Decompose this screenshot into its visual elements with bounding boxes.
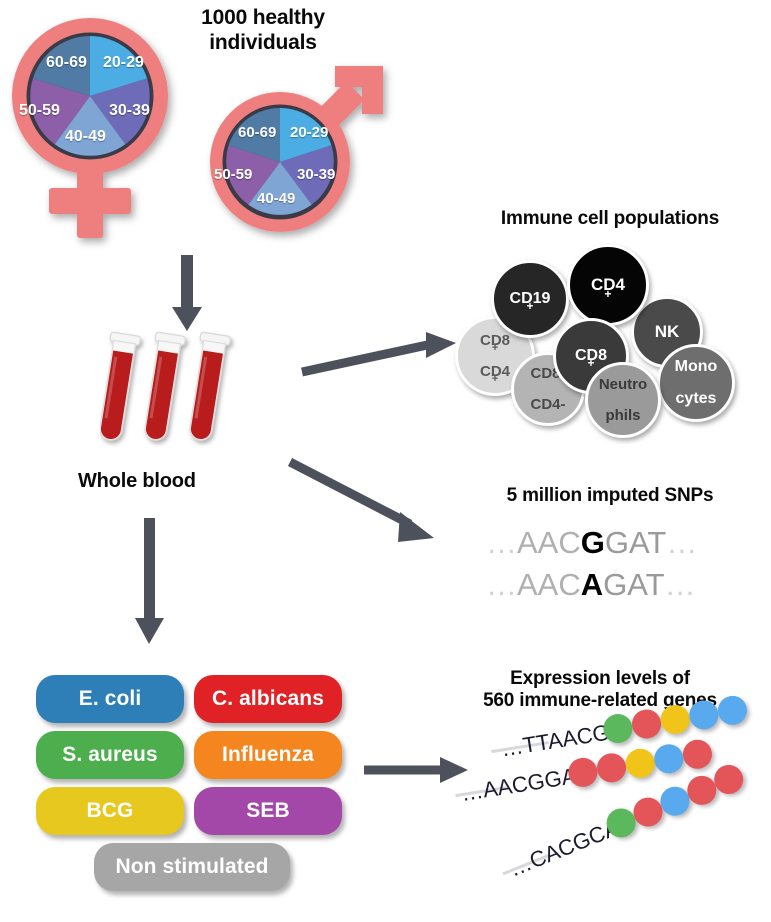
cell-label-nk: NK bbox=[655, 323, 680, 340]
snp-sequence-row-1: …AACGGAT… bbox=[486, 525, 697, 561]
stimulus-e-coli[interactable]: E. coli bbox=[36, 675, 184, 723]
stimulus-label-influenza: Influenza bbox=[222, 743, 314, 767]
stimulus-label-seb: SEB bbox=[246, 799, 289, 823]
snp-variant-2: A bbox=[581, 567, 603, 602]
stimulus-seb[interactable]: SEB bbox=[194, 787, 342, 835]
arrow-stimuli-to-expression bbox=[362, 752, 470, 788]
dna-bead bbox=[652, 742, 685, 775]
cell-label-cd8-pos: CD8+ bbox=[480, 333, 510, 348]
snp-suffix-2: GAT bbox=[603, 567, 664, 602]
snps-section-title: 5 million imputed SNPs bbox=[455, 485, 765, 507]
venus-glyph bbox=[8, 12, 188, 247]
arrow-blood-to-immune bbox=[300, 330, 460, 380]
snp-suffix-1: GAT bbox=[605, 525, 666, 560]
cell-label-neutro: Neutro bbox=[599, 377, 647, 392]
stimulus-label-c-albicans: C. albicans bbox=[212, 687, 324, 711]
cell-label-phils: phils bbox=[599, 408, 647, 423]
cell-cd19: CD19+ bbox=[491, 260, 569, 338]
expression-dna-strands: …TTAACGG …AACGGAT …CACGCAA bbox=[455, 730, 771, 915]
cell-cd4: CD4+ bbox=[567, 244, 649, 326]
cohort-title-line1: 1000 healthy bbox=[168, 6, 358, 31]
cell-monocytes: Mono cytes bbox=[657, 344, 735, 422]
age-pie-female bbox=[30, 36, 149, 156]
page-title: 1000 healthy individuals bbox=[168, 6, 358, 56]
stimulus-non-stimulated[interactable]: Non stimulated bbox=[94, 843, 290, 891]
arrow-cohort-to-blood bbox=[168, 255, 208, 333]
blood-tubes-icon bbox=[100, 330, 250, 465]
stimulus-bcg[interactable]: BCG bbox=[36, 787, 184, 835]
stimulus-label-non-stimulated: Non stimulated bbox=[115, 855, 268, 879]
snp-variant-1: G bbox=[581, 525, 605, 560]
snp-prefix-2: AAC bbox=[517, 567, 581, 602]
cell-label-mono: Mono bbox=[675, 359, 718, 375]
stimulus-label-s-aureus: S. aureus bbox=[62, 743, 157, 767]
snp-prefix-1: AAC bbox=[517, 525, 581, 560]
stimulus-s-aureus[interactable]: S. aureus bbox=[36, 731, 184, 779]
stimulus-c-albicans[interactable]: C. albicans bbox=[194, 675, 342, 723]
blood-tubes bbox=[100, 330, 250, 465]
figure-canvas: 1000 healthy individuals bbox=[0, 0, 771, 922]
expression-title-line1: Expression levels of bbox=[440, 668, 760, 690]
stimulus-label-bcg: BCG bbox=[87, 799, 134, 823]
stimulus-label-e-coli: E. coli bbox=[79, 687, 142, 711]
cell-label-cd4-neg: CD4- bbox=[530, 397, 565, 412]
mars-glyph bbox=[202, 62, 387, 247]
cohort-title-line2: individuals bbox=[168, 31, 358, 56]
male-symbol: 20-29 30-39 40-49 50-59 60-69 bbox=[202, 62, 387, 247]
dna-bead bbox=[681, 738, 714, 771]
immune-section-title: Immune cell populations bbox=[455, 208, 765, 230]
arrow-blood-to-stimuli bbox=[130, 518, 170, 648]
cell-label-cd4-pos: CD4+ bbox=[480, 364, 510, 379]
cell-label-cytes: cytes bbox=[675, 391, 718, 407]
stimuli-panel: E. coli C. albicans S. aureus Influenza … bbox=[36, 675, 346, 890]
female-symbol: 20-29 30-39 40-49 50-59 60-69 bbox=[8, 12, 188, 247]
stimulus-influenza[interactable]: Influenza bbox=[194, 731, 342, 779]
snp-sequence-row-2: …AACAGAT… bbox=[486, 567, 696, 603]
cell-neutrophils: Neutro phils bbox=[585, 362, 661, 438]
immune-cell-cluster: CD19+ CD4+ CD8+ CD4+ CD8+ NK CD8- CD4- N… bbox=[455, 240, 755, 420]
dna-bead bbox=[595, 751, 628, 784]
arrow-blood-to-snps bbox=[288, 456, 448, 546]
dna-bead bbox=[624, 747, 657, 780]
age-pie-male bbox=[226, 108, 334, 215]
snp-sequences: …AACGGAT… …AACAGAT… bbox=[470, 525, 760, 620]
whole-blood-label: Whole blood bbox=[78, 470, 258, 494]
